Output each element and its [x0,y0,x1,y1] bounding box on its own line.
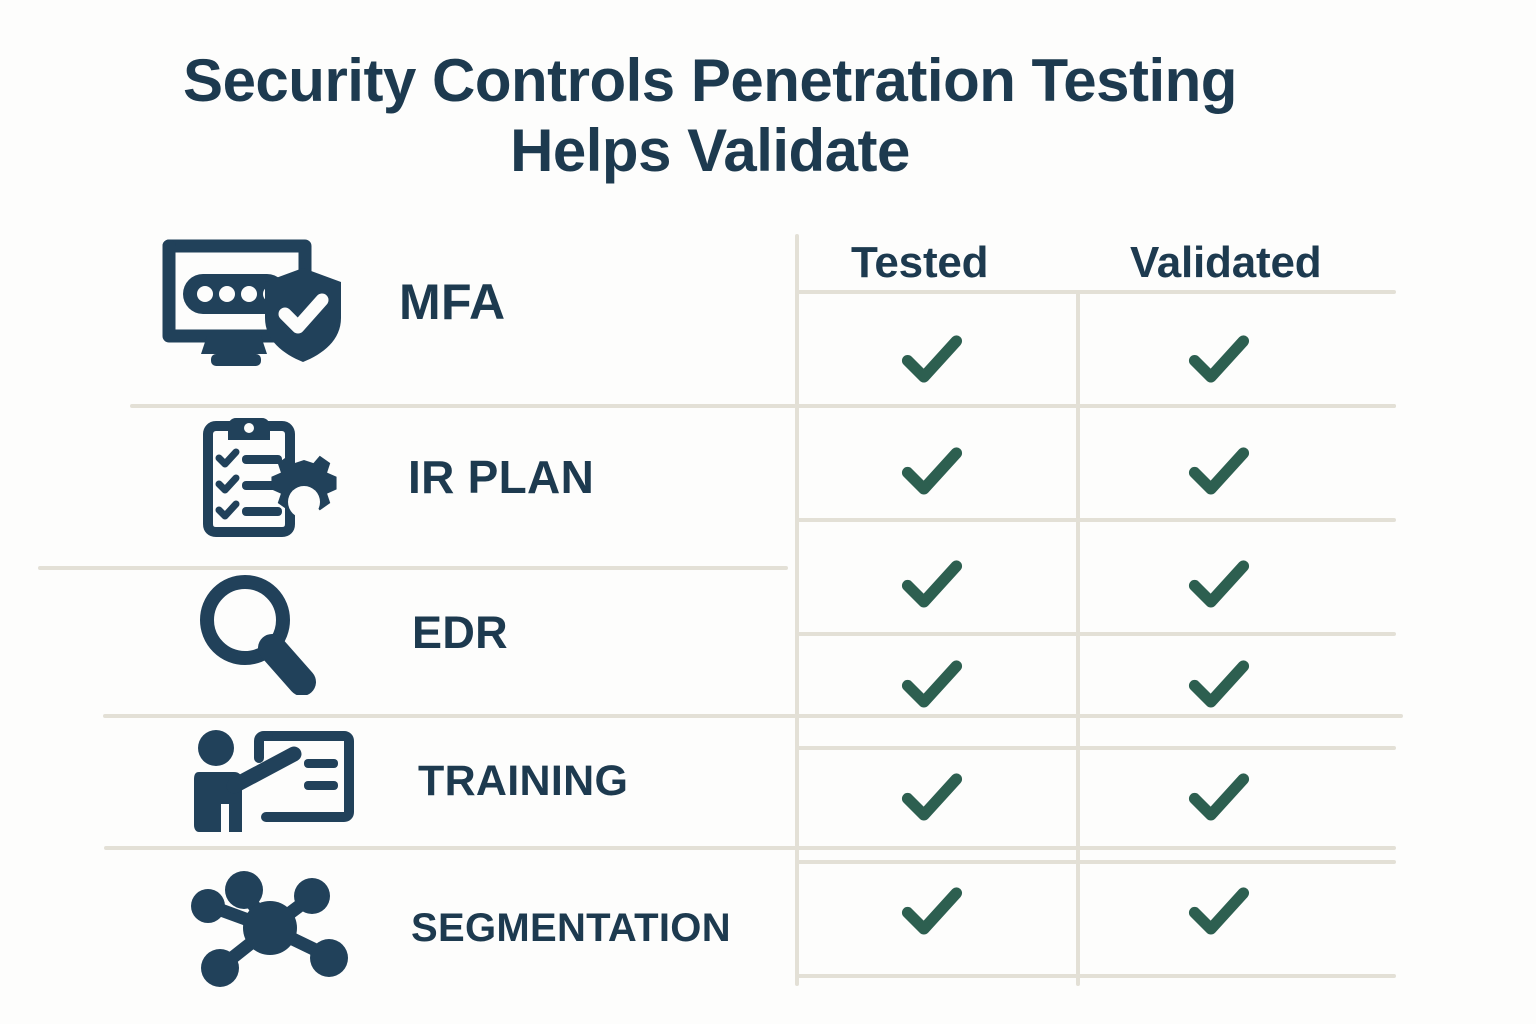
table-horizontal-rule [797,290,1396,294]
check-icon [1180,758,1258,836]
table-horizontal-rule [797,518,1396,522]
table-horizontal-rule [797,632,1396,636]
check-icon [893,545,971,623]
column-header-validated: Validated [1130,238,1321,288]
check-icon [1180,545,1258,623]
check-icon [1180,872,1258,950]
check-icon [893,645,971,723]
check-icon [893,320,971,398]
check-icon [893,758,971,836]
check-icon [1180,320,1258,398]
table-vertical-rule [1076,290,1080,986]
check-icon [893,432,971,510]
table-horizontal-rule [797,746,1396,750]
table-horizontal-rule [797,404,1396,408]
table-horizontal-rule [797,860,1396,864]
check-icon [1180,432,1258,510]
infographic-canvas: Security Controls Penetration Testing He… [0,0,1536,1024]
column-header-tested: Tested [851,238,988,288]
table-horizontal-rule [797,974,1396,978]
status-table: Tested Validated [0,0,1536,1024]
check-icon [893,872,971,950]
table-vertical-rule [795,234,799,986]
check-icon [1180,645,1258,723]
